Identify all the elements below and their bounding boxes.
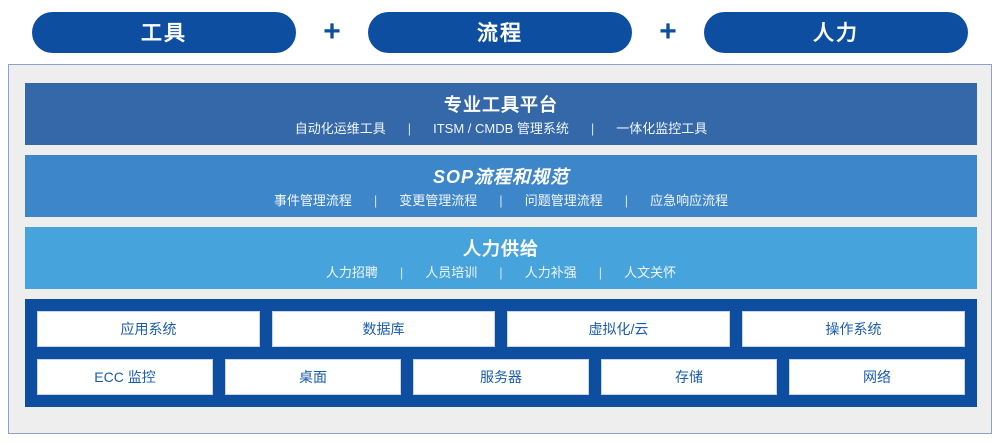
infra-chip-label: 数据库 bbox=[363, 319, 405, 339]
diagram-canvas: 工具 + 流程 + 人力 专业工具平台 自动化运维工具 | ITSM / CMD… bbox=[0, 0, 1000, 442]
layer-sub-item: 应急响应流程 bbox=[628, 193, 750, 209]
infra-chip-operating-system[interactable]: 操作系统 bbox=[742, 311, 965, 347]
sub-separator: | bbox=[400, 265, 403, 281]
infra-chip-desktop[interactable]: 桌面 bbox=[225, 359, 401, 395]
infra-chip-label: ECC 监控 bbox=[94, 367, 155, 387]
layer-sub-list: 自动化运维工具 | ITSM / CMDB 管理系统 | 一体化监控工具 bbox=[273, 121, 730, 137]
infra-chip-label: 网络 bbox=[863, 367, 891, 387]
layer-sub-list: 人力招聘 | 人员培训 | 人力补强 | 人文关怀 bbox=[304, 265, 698, 281]
infra-chip-database[interactable]: 数据库 bbox=[272, 311, 495, 347]
layer-sub-item: 人力招聘 bbox=[304, 265, 400, 281]
layer-title: SOP流程和规范 bbox=[433, 166, 569, 189]
formula-pill-label: 人力 bbox=[813, 17, 859, 47]
layer-sub-item: 变更管理流程 bbox=[377, 193, 499, 209]
sub-separator: | bbox=[499, 193, 502, 209]
sub-separator: | bbox=[408, 121, 411, 137]
sub-separator: | bbox=[374, 193, 377, 209]
layer-sub-item: 自动化运维工具 bbox=[273, 121, 408, 137]
formula-pill-label: 工具 bbox=[141, 17, 187, 47]
sub-separator: | bbox=[591, 121, 594, 137]
infra-chip-virtualization-cloud[interactable]: 虚拟化/云 bbox=[507, 311, 730, 347]
layer-sub-item: ITSM / CMDB 管理系统 bbox=[411, 121, 591, 137]
layer-sub-list: 事件管理流程 | 变更管理流程 | 问题管理流程 | 应急响应流程 bbox=[252, 193, 750, 209]
infra-chip-network[interactable]: 网络 bbox=[789, 359, 965, 395]
infra-chip-ecc-monitoring[interactable]: ECC 监控 bbox=[37, 359, 213, 395]
plus-operator-icon: + bbox=[296, 17, 368, 47]
layer-band-manpower-supply[interactable]: 人力供给 人力招聘 | 人员培训 | 人力补强 | 人文关怀 bbox=[25, 227, 977, 289]
infra-chip-label: 服务器 bbox=[480, 367, 522, 387]
sub-separator: | bbox=[499, 265, 502, 281]
formula-pill-process[interactable]: 流程 bbox=[368, 12, 632, 53]
formula-pill-manpower[interactable]: 人力 bbox=[704, 12, 968, 53]
infra-chip-label: 操作系统 bbox=[826, 319, 882, 339]
layer-sub-item: 人文关怀 bbox=[602, 265, 698, 281]
infra-chip-label: 虚拟化/云 bbox=[589, 319, 649, 339]
plus-operator-icon: + bbox=[632, 17, 704, 47]
layer-sub-item: 一体化监控工具 bbox=[594, 121, 729, 137]
infra-chip-label: 桌面 bbox=[299, 367, 327, 387]
infrastructure-panel: 应用系统 数据库 虚拟化/云 操作系统 ECC 监控 bbox=[25, 299, 977, 407]
layer-sub-item: 事件管理流程 bbox=[252, 193, 374, 209]
layer-sub-item: 人员培训 bbox=[403, 265, 499, 281]
layer-stack: 专业工具平台 自动化运维工具 | ITSM / CMDB 管理系统 | 一体化监… bbox=[25, 83, 977, 407]
formula-pill-label: 流程 bbox=[477, 17, 523, 47]
infra-chip-server[interactable]: 服务器 bbox=[413, 359, 589, 395]
infrastructure-row-2: ECC 监控 桌面 服务器 存储 网络 bbox=[37, 359, 965, 395]
infra-chip-label: 应用系统 bbox=[121, 319, 177, 339]
layer-sub-item: 人力补强 bbox=[503, 265, 599, 281]
layer-band-sop-process[interactable]: SOP流程和规范 事件管理流程 | 变更管理流程 | 问题管理流程 | 应急响应… bbox=[25, 155, 977, 217]
layer-sub-item: 问题管理流程 bbox=[503, 193, 625, 209]
sub-separator: | bbox=[625, 193, 628, 209]
layer-title: 人力供给 bbox=[463, 238, 539, 261]
infra-chip-label: 存储 bbox=[675, 367, 703, 387]
layer-title: 专业工具平台 bbox=[444, 94, 558, 117]
infra-chip-application-system[interactable]: 应用系统 bbox=[37, 311, 260, 347]
layer-band-tool-platform[interactable]: 专业工具平台 自动化运维工具 | ITSM / CMDB 管理系统 | 一体化监… bbox=[25, 83, 977, 145]
sub-separator: | bbox=[599, 265, 602, 281]
infrastructure-row-1: 应用系统 数据库 虚拟化/云 操作系统 bbox=[37, 311, 965, 347]
diagram-frame: 专业工具平台 自动化运维工具 | ITSM / CMDB 管理系统 | 一体化监… bbox=[8, 64, 992, 434]
infra-chip-storage[interactable]: 存储 bbox=[601, 359, 777, 395]
top-formula-row: 工具 + 流程 + 人力 bbox=[0, 0, 1000, 64]
formula-pill-tools[interactable]: 工具 bbox=[32, 12, 296, 53]
